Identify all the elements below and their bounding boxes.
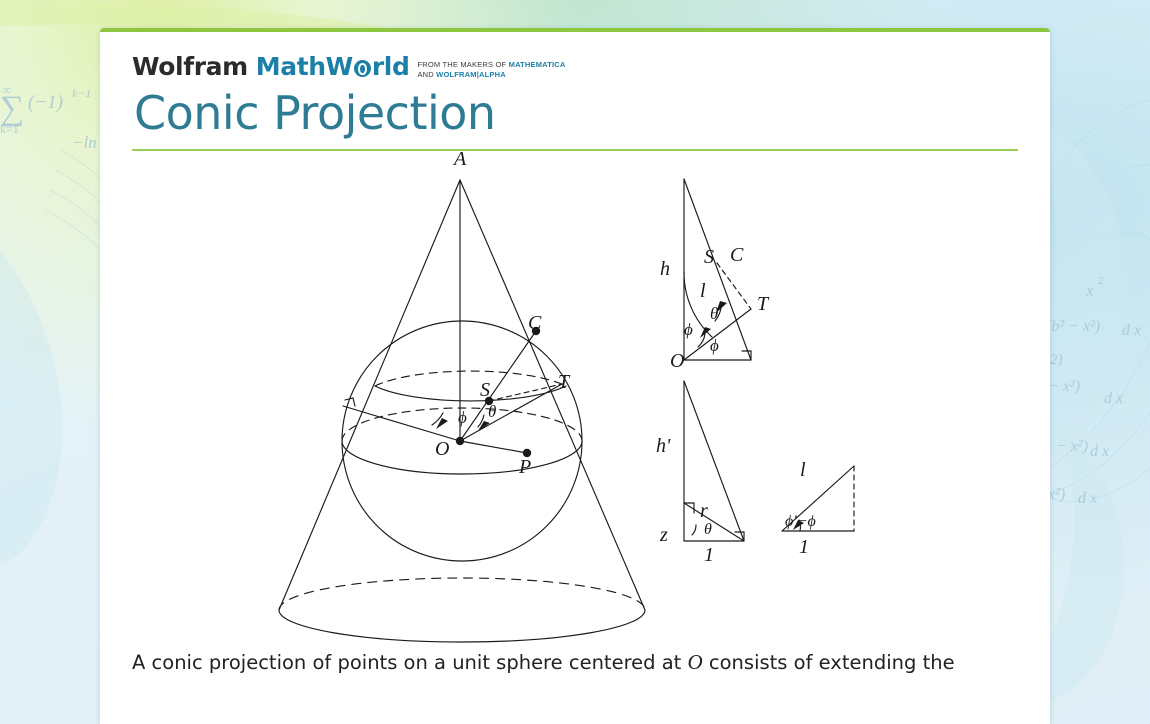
label-O-main: O <box>435 438 449 460</box>
bg-frag-j: 2) <box>1050 352 1063 369</box>
label-C-main: C <box>528 312 542 334</box>
bg-frag-h: x²) <box>1048 486 1065 504</box>
label-z: z <box>659 524 668 546</box>
conic-projection-diagram: A C S T O P ϕ θ h S C T O l ϕ θ ϕ <box>132 151 1018 645</box>
bg-frag-i: d x <box>1078 490 1097 508</box>
content-card: Wolfram MathW rld FROM THE MAKERS OF MAT… <box>100 28 1050 724</box>
body-text-post: consists of extending the <box>703 651 955 674</box>
label-O-top: O <box>670 350 684 372</box>
bg-formula-body: (−1) <box>28 92 63 114</box>
bg-frag-a: x <box>1086 281 1094 301</box>
label-phi-diff: ϕ'−ϕ <box>785 513 816 530</box>
bg-frag-b: (b² − x²) <box>1046 318 1100 336</box>
site-logo[interactable]: Wolfram MathW rld FROM THE MAKERS OF MAT… <box>132 54 1018 80</box>
logo-mathw-text: MathW <box>256 54 353 79</box>
body-text-pre: A conic projection of points on a unit s… <box>132 651 688 674</box>
label-h: h <box>660 258 670 280</box>
logo-tagline: FROM THE MAKERS OF MATHEMATICA AND WOLFR… <box>417 54 565 80</box>
label-h-prime: h' <box>656 435 671 457</box>
label-phi-top-2: ϕ <box>710 336 719 355</box>
bg-formula-ln: −ln <box>72 133 97 153</box>
label-theta-top: θ <box>710 304 718 323</box>
label-l-small: l <box>800 459 806 481</box>
label-P-main: P <box>518 456 531 478</box>
logo-rld-text: rld <box>372 54 410 79</box>
label-r: r <box>700 500 708 522</box>
label-theta-main: θ <box>488 402 496 421</box>
bg-frag-c: d x <box>1122 322 1141 340</box>
bg-frag-a-exp: 2 <box>1098 275 1104 287</box>
globe-icon <box>354 60 371 77</box>
body-text-variable-O: O <box>688 650 703 674</box>
bg-frag-g: d x <box>1090 443 1109 461</box>
label-S-top: S <box>704 246 714 268</box>
label-T-top: T <box>757 293 770 315</box>
label-S-main: S <box>480 379 490 401</box>
tagline-line-2-pre: AND <box>417 70 436 79</box>
page-title: Conic Projection <box>134 86 1018 140</box>
bg-frag-d: − x²) <box>1048 378 1080 396</box>
label-l-top: l <box>700 280 706 302</box>
tagline-line-2: AND WOLFRAM|ALPHA <box>417 70 505 79</box>
bg-frag-f: − x²) <box>1056 438 1088 456</box>
bg-frag-e: d x <box>1104 390 1123 408</box>
label-one-mid: 1 <box>704 544 714 566</box>
label-A: A <box>452 151 467 170</box>
bg-formula-sum-bottom: k=1 <box>0 122 19 137</box>
logo-wolfram-text: Wolfram <box>132 54 248 79</box>
label-one-small: 1 <box>799 536 809 558</box>
body-paragraph: A conic projection of points on a unit s… <box>132 647 1018 677</box>
label-T-main: T <box>558 371 571 393</box>
tagline-wolfram-alpha: WOLFRAM|ALPHA <box>436 70 506 79</box>
figure-container: A C S T O P ϕ θ h S C T O l ϕ θ ϕ <box>132 151 1018 645</box>
label-theta-mid: θ <box>704 521 712 538</box>
bg-formula-exp: k−1 <box>72 86 91 101</box>
label-C-top: C <box>730 244 744 266</box>
tagline-mathematica: MATHEMATICA <box>509 60 566 69</box>
logo-mathworld-text: MathW rld <box>256 54 410 79</box>
tagline-line-1: FROM THE MAKERS OF MATHEMATICA <box>417 60 565 69</box>
tagline-line-1-pre: FROM THE MAKERS OF <box>417 60 508 69</box>
label-phi-top: ϕ <box>684 320 693 339</box>
label-phi-main: ϕ <box>458 408 467 427</box>
